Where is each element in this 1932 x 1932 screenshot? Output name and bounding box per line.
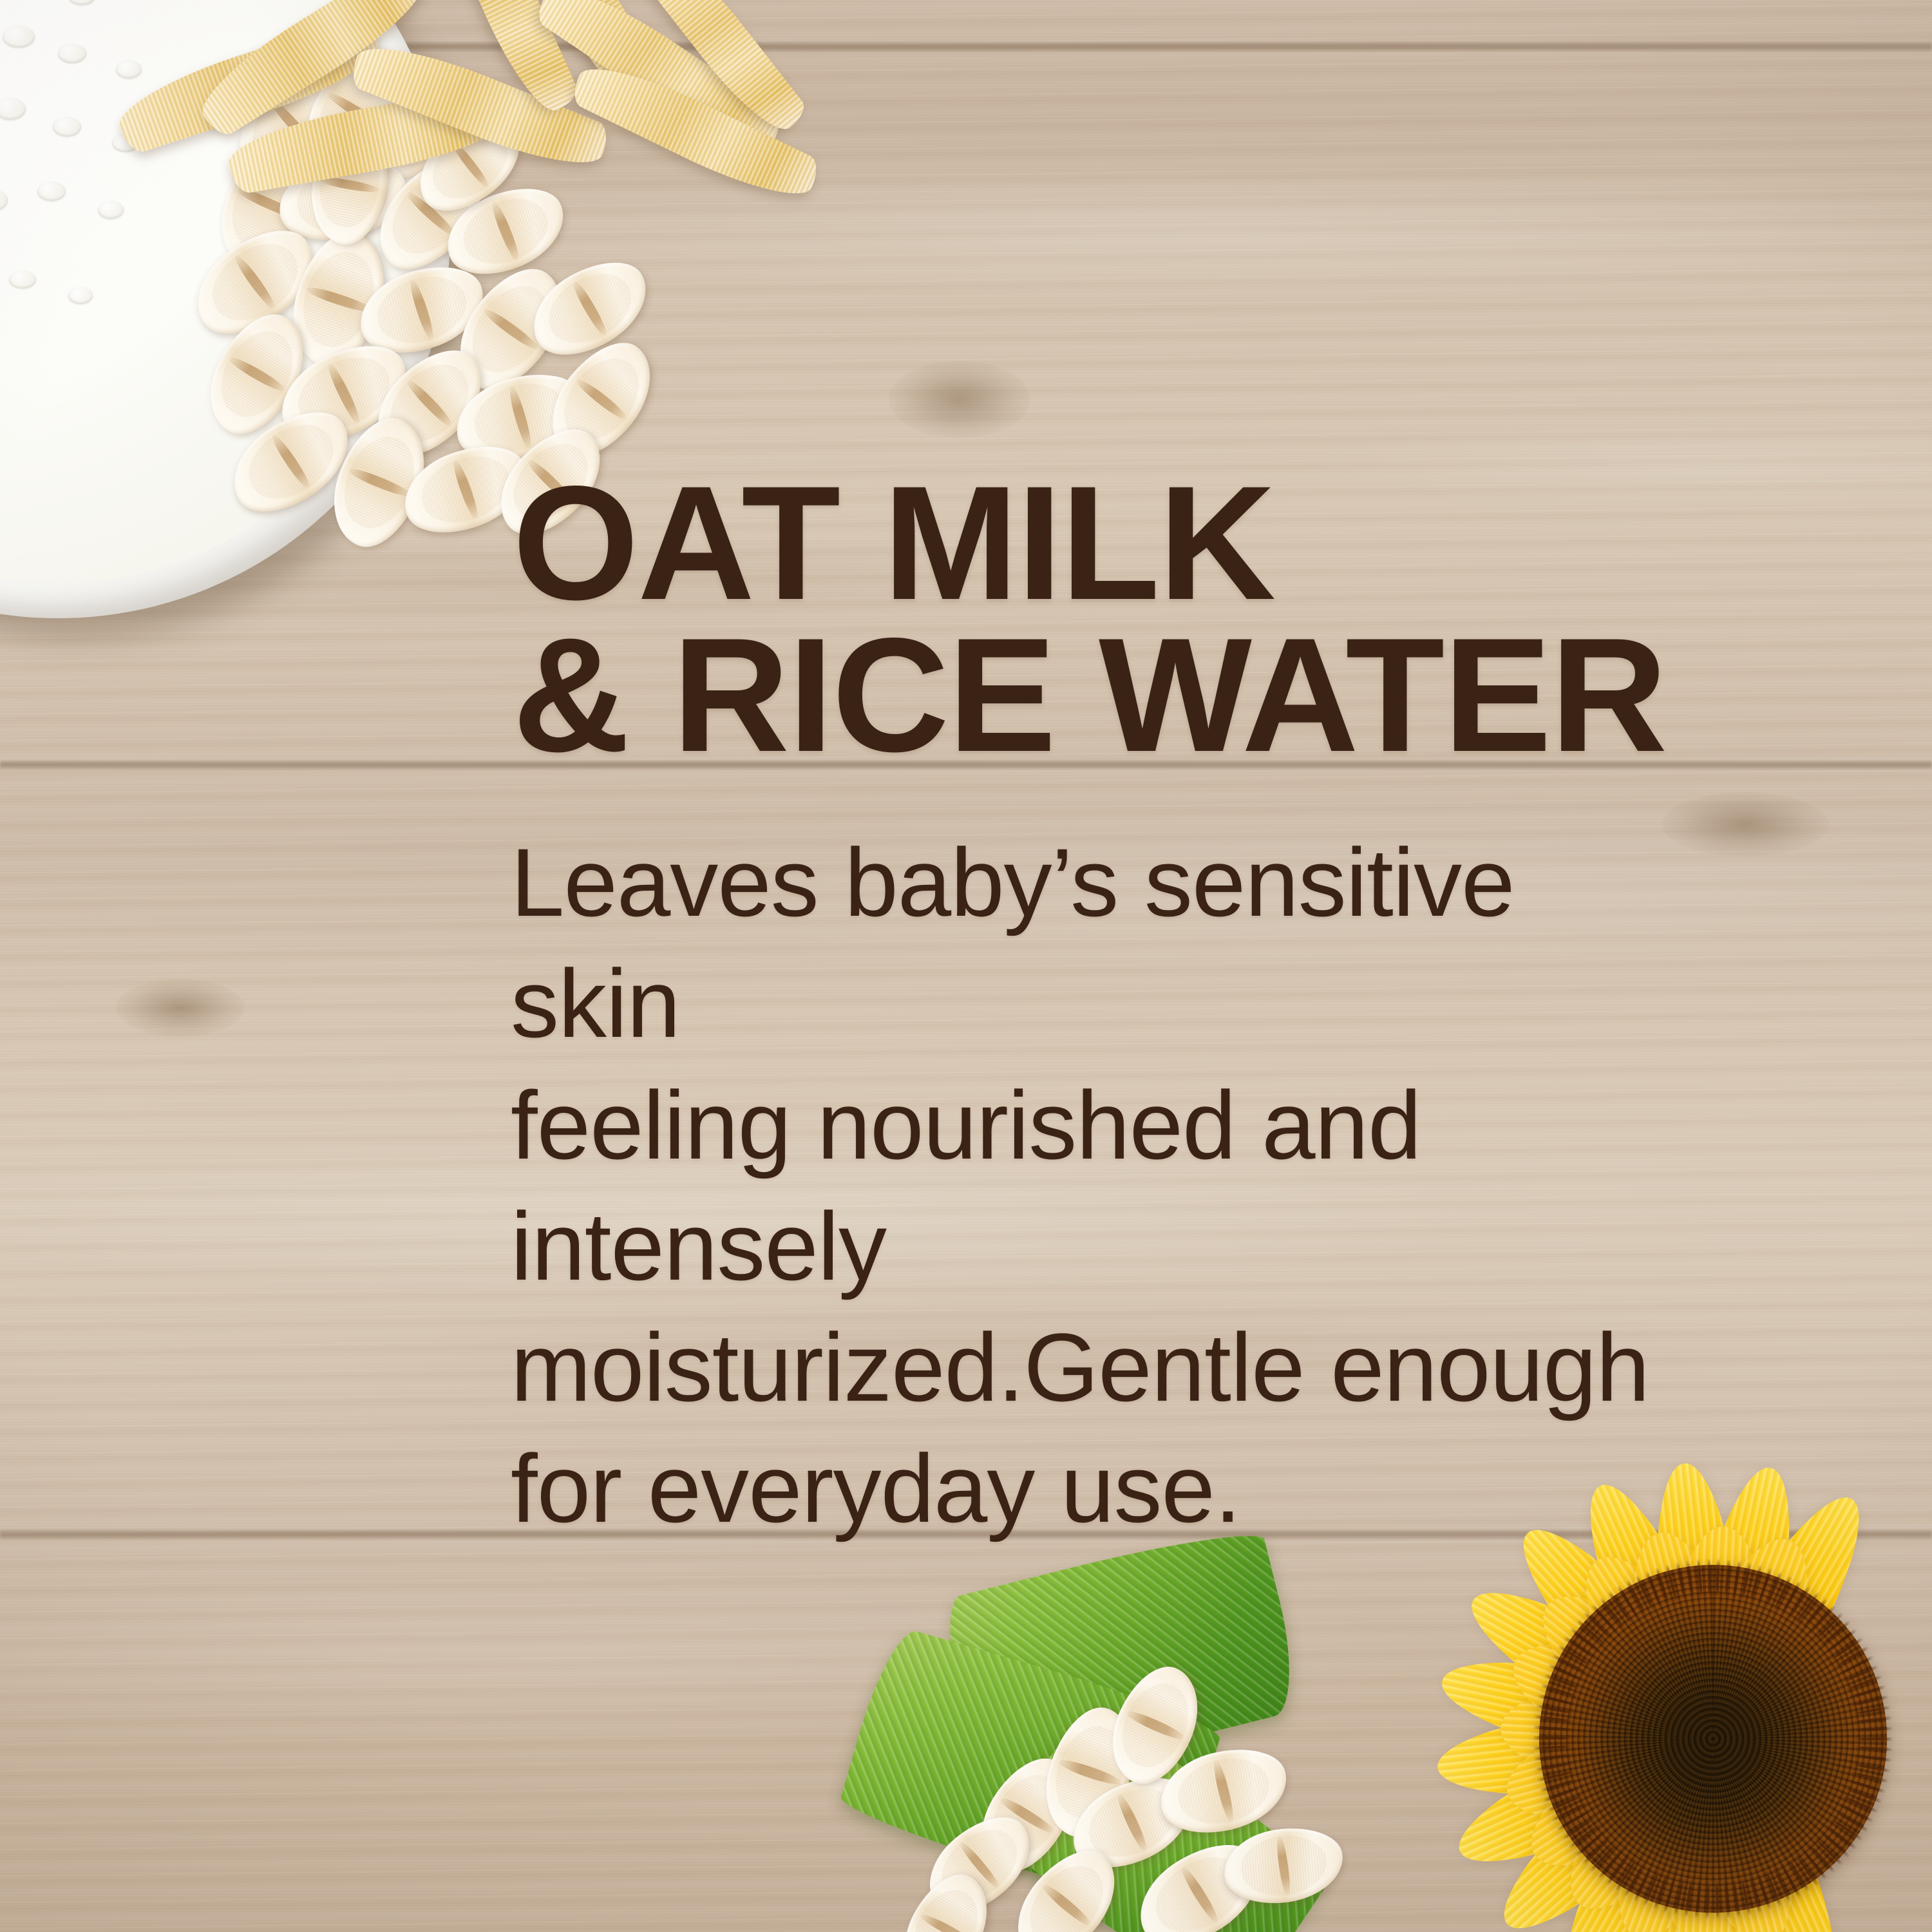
product-benefit-banner: OAT MILK & RICE WATER Leaves baby’s sens… — [0, 0, 1932, 1932]
vignette-overlay — [0, 0, 1932, 1932]
